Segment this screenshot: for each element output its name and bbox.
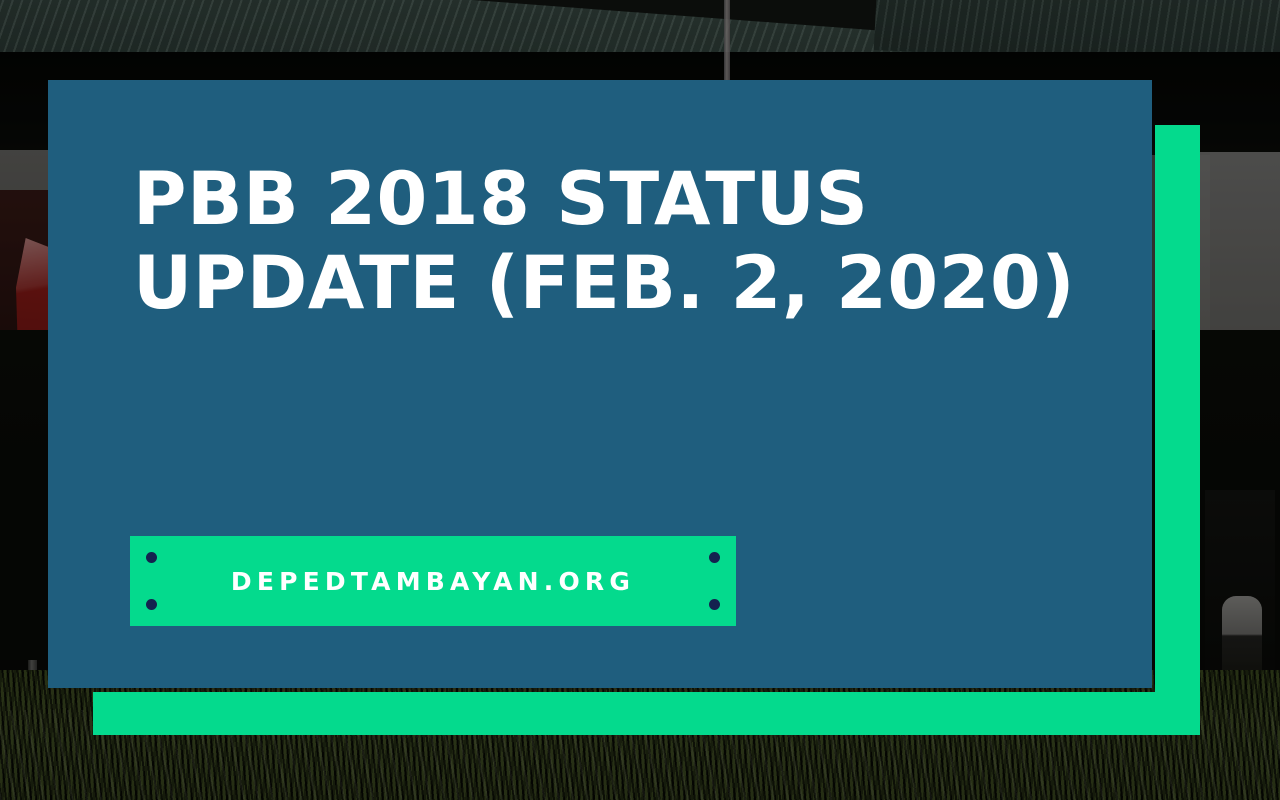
accent-bar-bottom (93, 692, 1200, 735)
accent-bar-right (1155, 125, 1200, 735)
title-card: PBB 2018 STATUS UPDATE (FEB. 2, 2020) de… (48, 80, 1152, 688)
dot-icon-bottom-right (709, 599, 720, 610)
dot-icon-bottom-left (146, 599, 157, 610)
dot-icon-top-left (146, 552, 157, 563)
site-badge-label: depedtambayan.org (231, 567, 635, 596)
site-badge[interactable]: depedtambayan.org (130, 536, 736, 626)
dot-icon-top-right (709, 552, 720, 563)
featured-image-banner: PBB 2018 STATUS UPDATE (FEB. 2, 2020) de… (0, 0, 1280, 800)
page-title: PBB 2018 STATUS UPDATE (FEB. 2, 2020) (133, 158, 1123, 326)
